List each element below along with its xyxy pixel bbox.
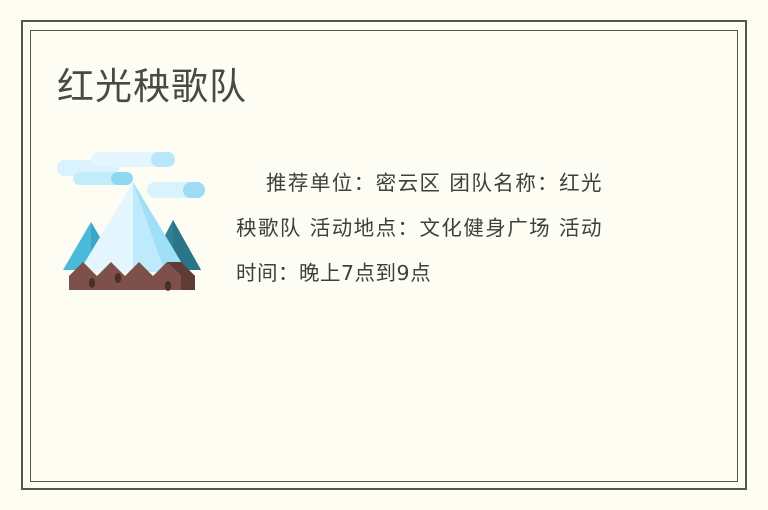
- page-root: 红光秧歌队: [0, 0, 768, 510]
- content-area: 推荐单位：密云区 团队名称：红光秧歌队 活动地点：文化健身广场 活动时间：晚上7…: [55, 150, 695, 360]
- team-details-text: 推荐单位：密云区 团队名称：红光秧歌队 活动地点：文化健身广场 活动时间：晚上7…: [236, 161, 602, 296]
- page-title: 红光秧歌队: [57, 61, 247, 113]
- broken-image-placeholder-icon: [55, 150, 212, 296]
